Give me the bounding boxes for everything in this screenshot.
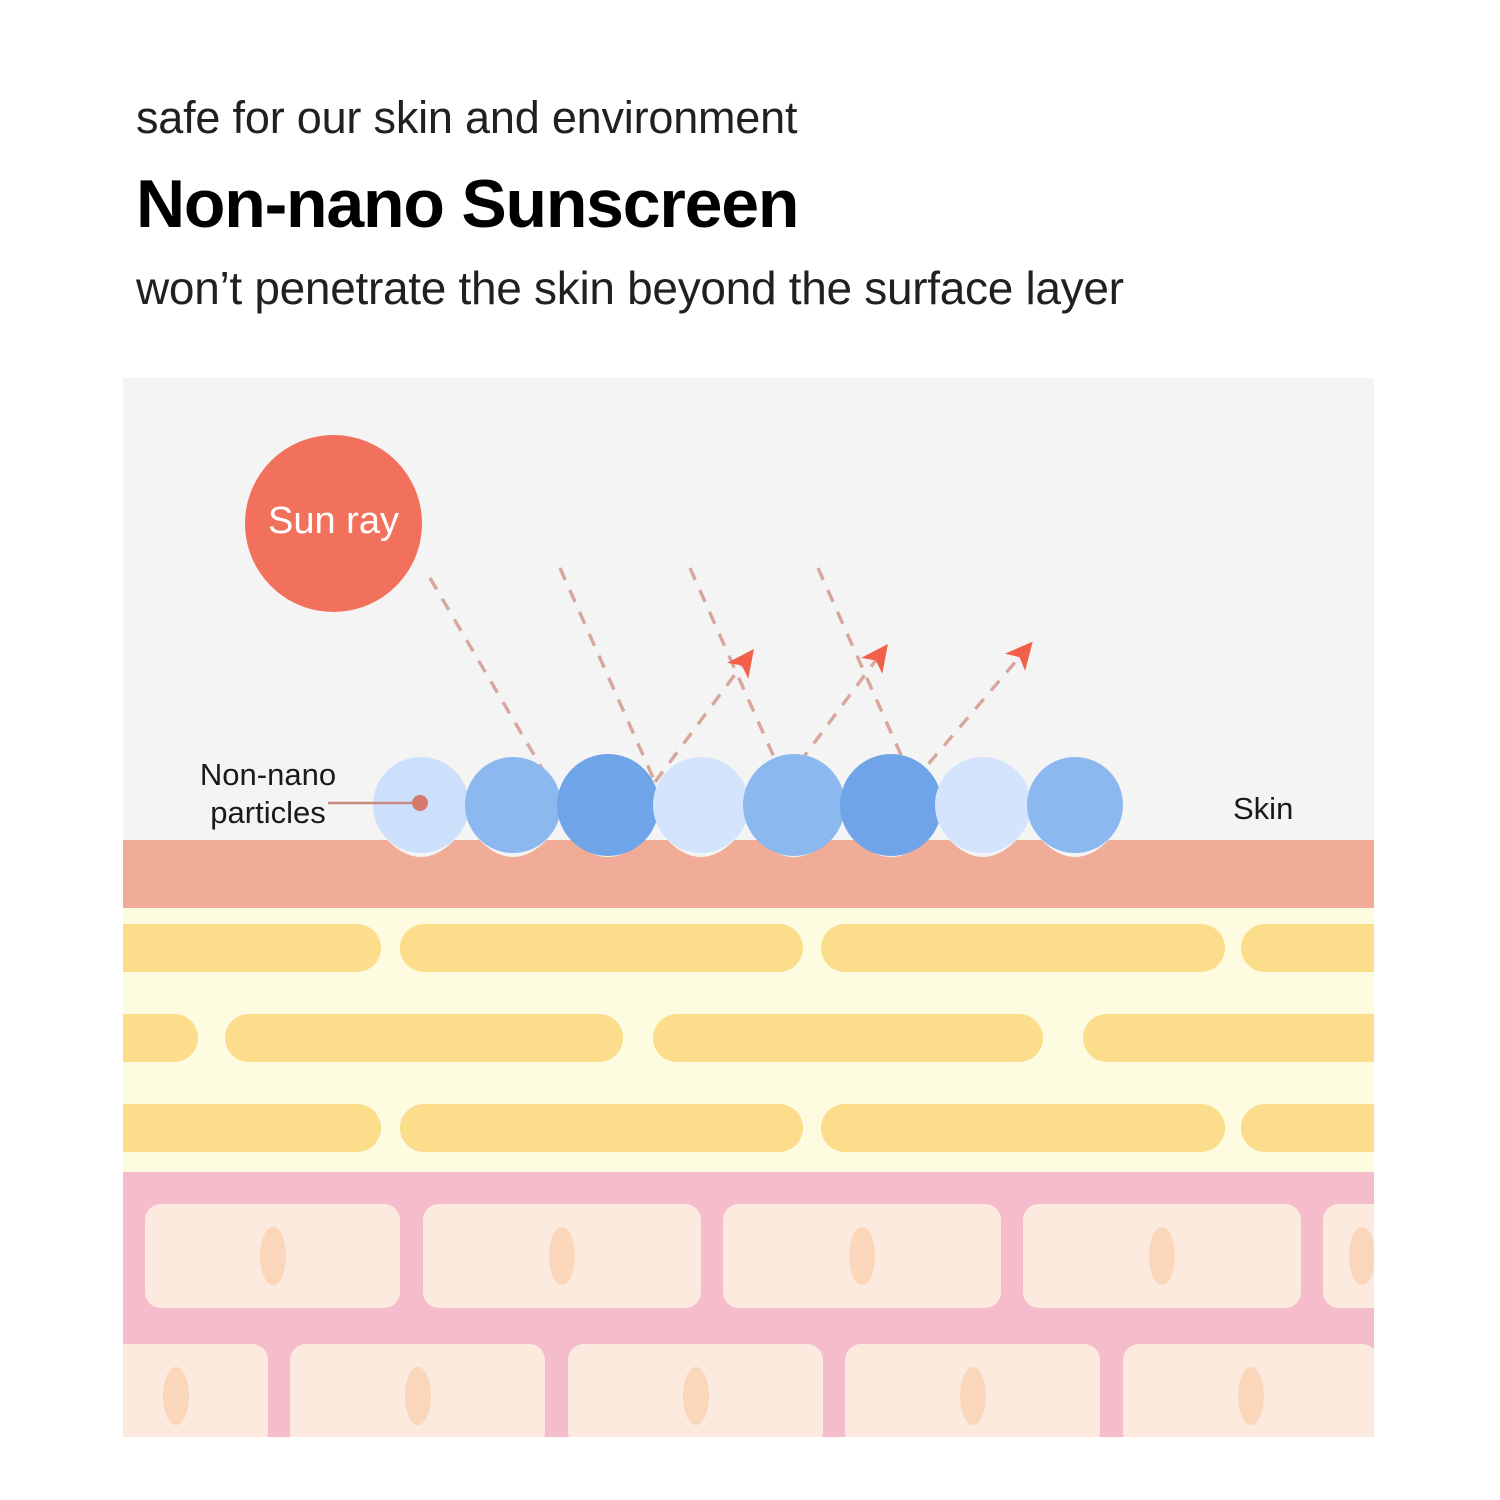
particle-leader-line <box>123 378 1374 1437</box>
infographic-page: safe for our skin and environment Non-na… <box>0 0 1500 1500</box>
subtitle-text: won’t penetrate the skin beyond the surf… <box>136 265 1124 311</box>
page-title: Non-nano Sunscreen <box>136 170 798 238</box>
non-nano-particles-label-line1: Non-nano <box>178 756 358 794</box>
skin-label: Skin <box>1233 790 1293 828</box>
non-nano-particles-label-line2: particles <box>178 794 358 832</box>
non-nano-particles-label: Non-nano particles <box>178 756 358 832</box>
eyebrow-text: safe for our skin and environment <box>136 95 797 140</box>
skin-cross-section-diagram: Sun ray Non-nano particles Skin <box>123 378 1374 1437</box>
